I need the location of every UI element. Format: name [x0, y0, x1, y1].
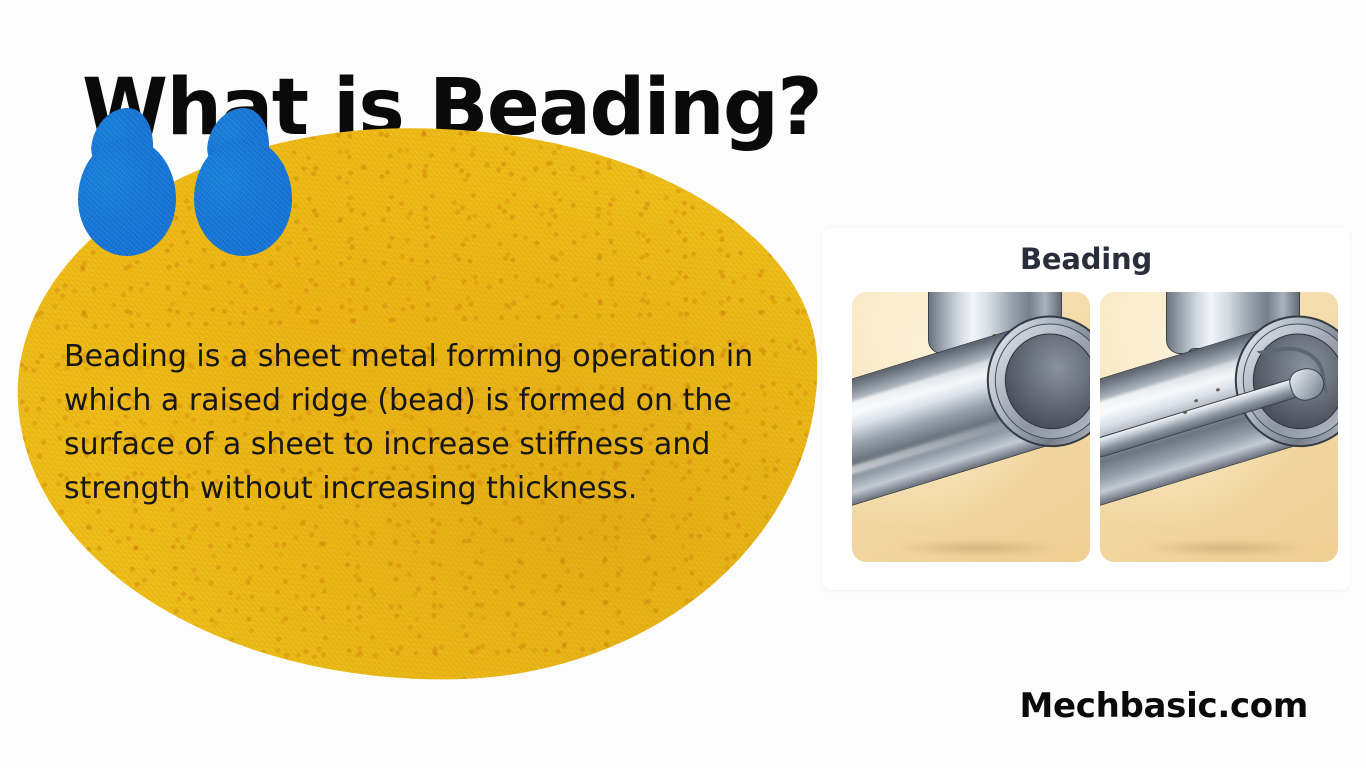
- quote-bowl: [194, 138, 292, 256]
- slide-canvas: What is Beading? Beading is a sheet meta…: [0, 0, 1366, 768]
- quote-glyph-left: [78, 108, 176, 258]
- illustration-panels: [852, 292, 1338, 562]
- illustration-panel-before: [852, 292, 1090, 562]
- quote-glyph-right: [194, 108, 292, 258]
- illustration-caption: Beading: [822, 242, 1350, 276]
- panel-shadow: [895, 540, 1062, 556]
- panel-shadow: [1143, 540, 1310, 556]
- illustration-card: Beading: [822, 228, 1350, 590]
- open-quote-icon: [78, 108, 308, 258]
- definition-text: Beading is a sheet metal forming operati…: [64, 335, 754, 511]
- quote-bowl: [78, 138, 176, 256]
- site-brand: Mechbasic.com: [1019, 686, 1308, 726]
- illustration-panel-after: [1100, 292, 1338, 562]
